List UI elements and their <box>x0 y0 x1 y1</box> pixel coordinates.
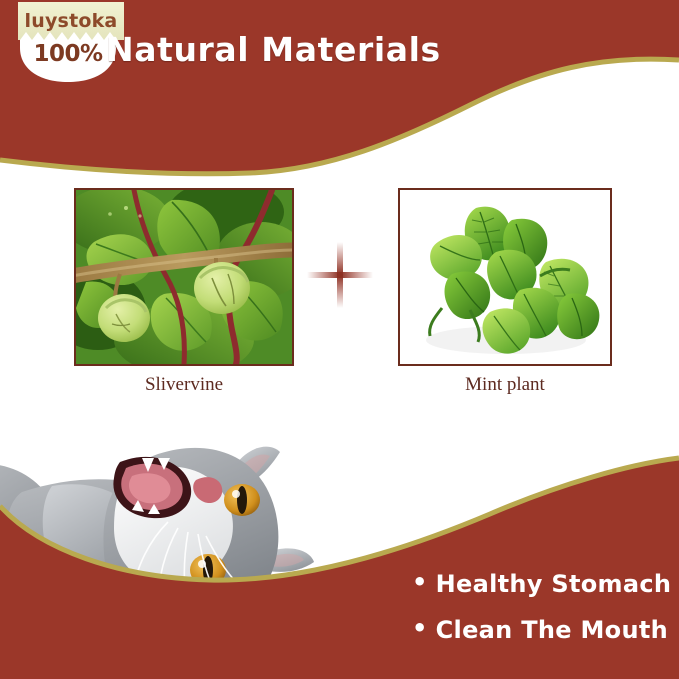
mint-caption: Mint plant <box>398 374 612 396</box>
mint-photo-frame <box>398 188 612 366</box>
silvervine-photo-frame <box>74 188 294 366</box>
bullet-dot-icon: • <box>412 606 428 650</box>
bullet-dot-icon: • <box>412 560 428 604</box>
silvervine-gall-right <box>194 262 250 314</box>
mint-plant-icon <box>400 190 610 364</box>
page-title: Natural Materials <box>106 30 666 69</box>
plus-sign-icon <box>305 240 375 310</box>
silvervine-caption: Slivervine <box>74 374 294 396</box>
logo-percent-badge: 100% <box>20 36 116 72</box>
silvervine-plant-icon <box>76 190 292 364</box>
benefit-label-2: Clean The Mouth <box>436 616 668 644</box>
benefits-list: •Healthy Stomach •Clean The Mouth <box>412 560 672 652</box>
benefit-item-1: •Healthy Stomach <box>412 560 672 606</box>
infographic-page: luystoka 100% Natural Materials <box>0 0 679 679</box>
ingredient-card-silvervine: Slivervine <box>74 188 294 403</box>
benefit-label-1: Healthy Stomach <box>436 570 672 598</box>
ingredient-card-mint: Mint plant <box>398 188 612 403</box>
silvervine-gall-left <box>98 294 150 342</box>
benefit-item-2: •Clean The Mouth <box>412 606 672 652</box>
